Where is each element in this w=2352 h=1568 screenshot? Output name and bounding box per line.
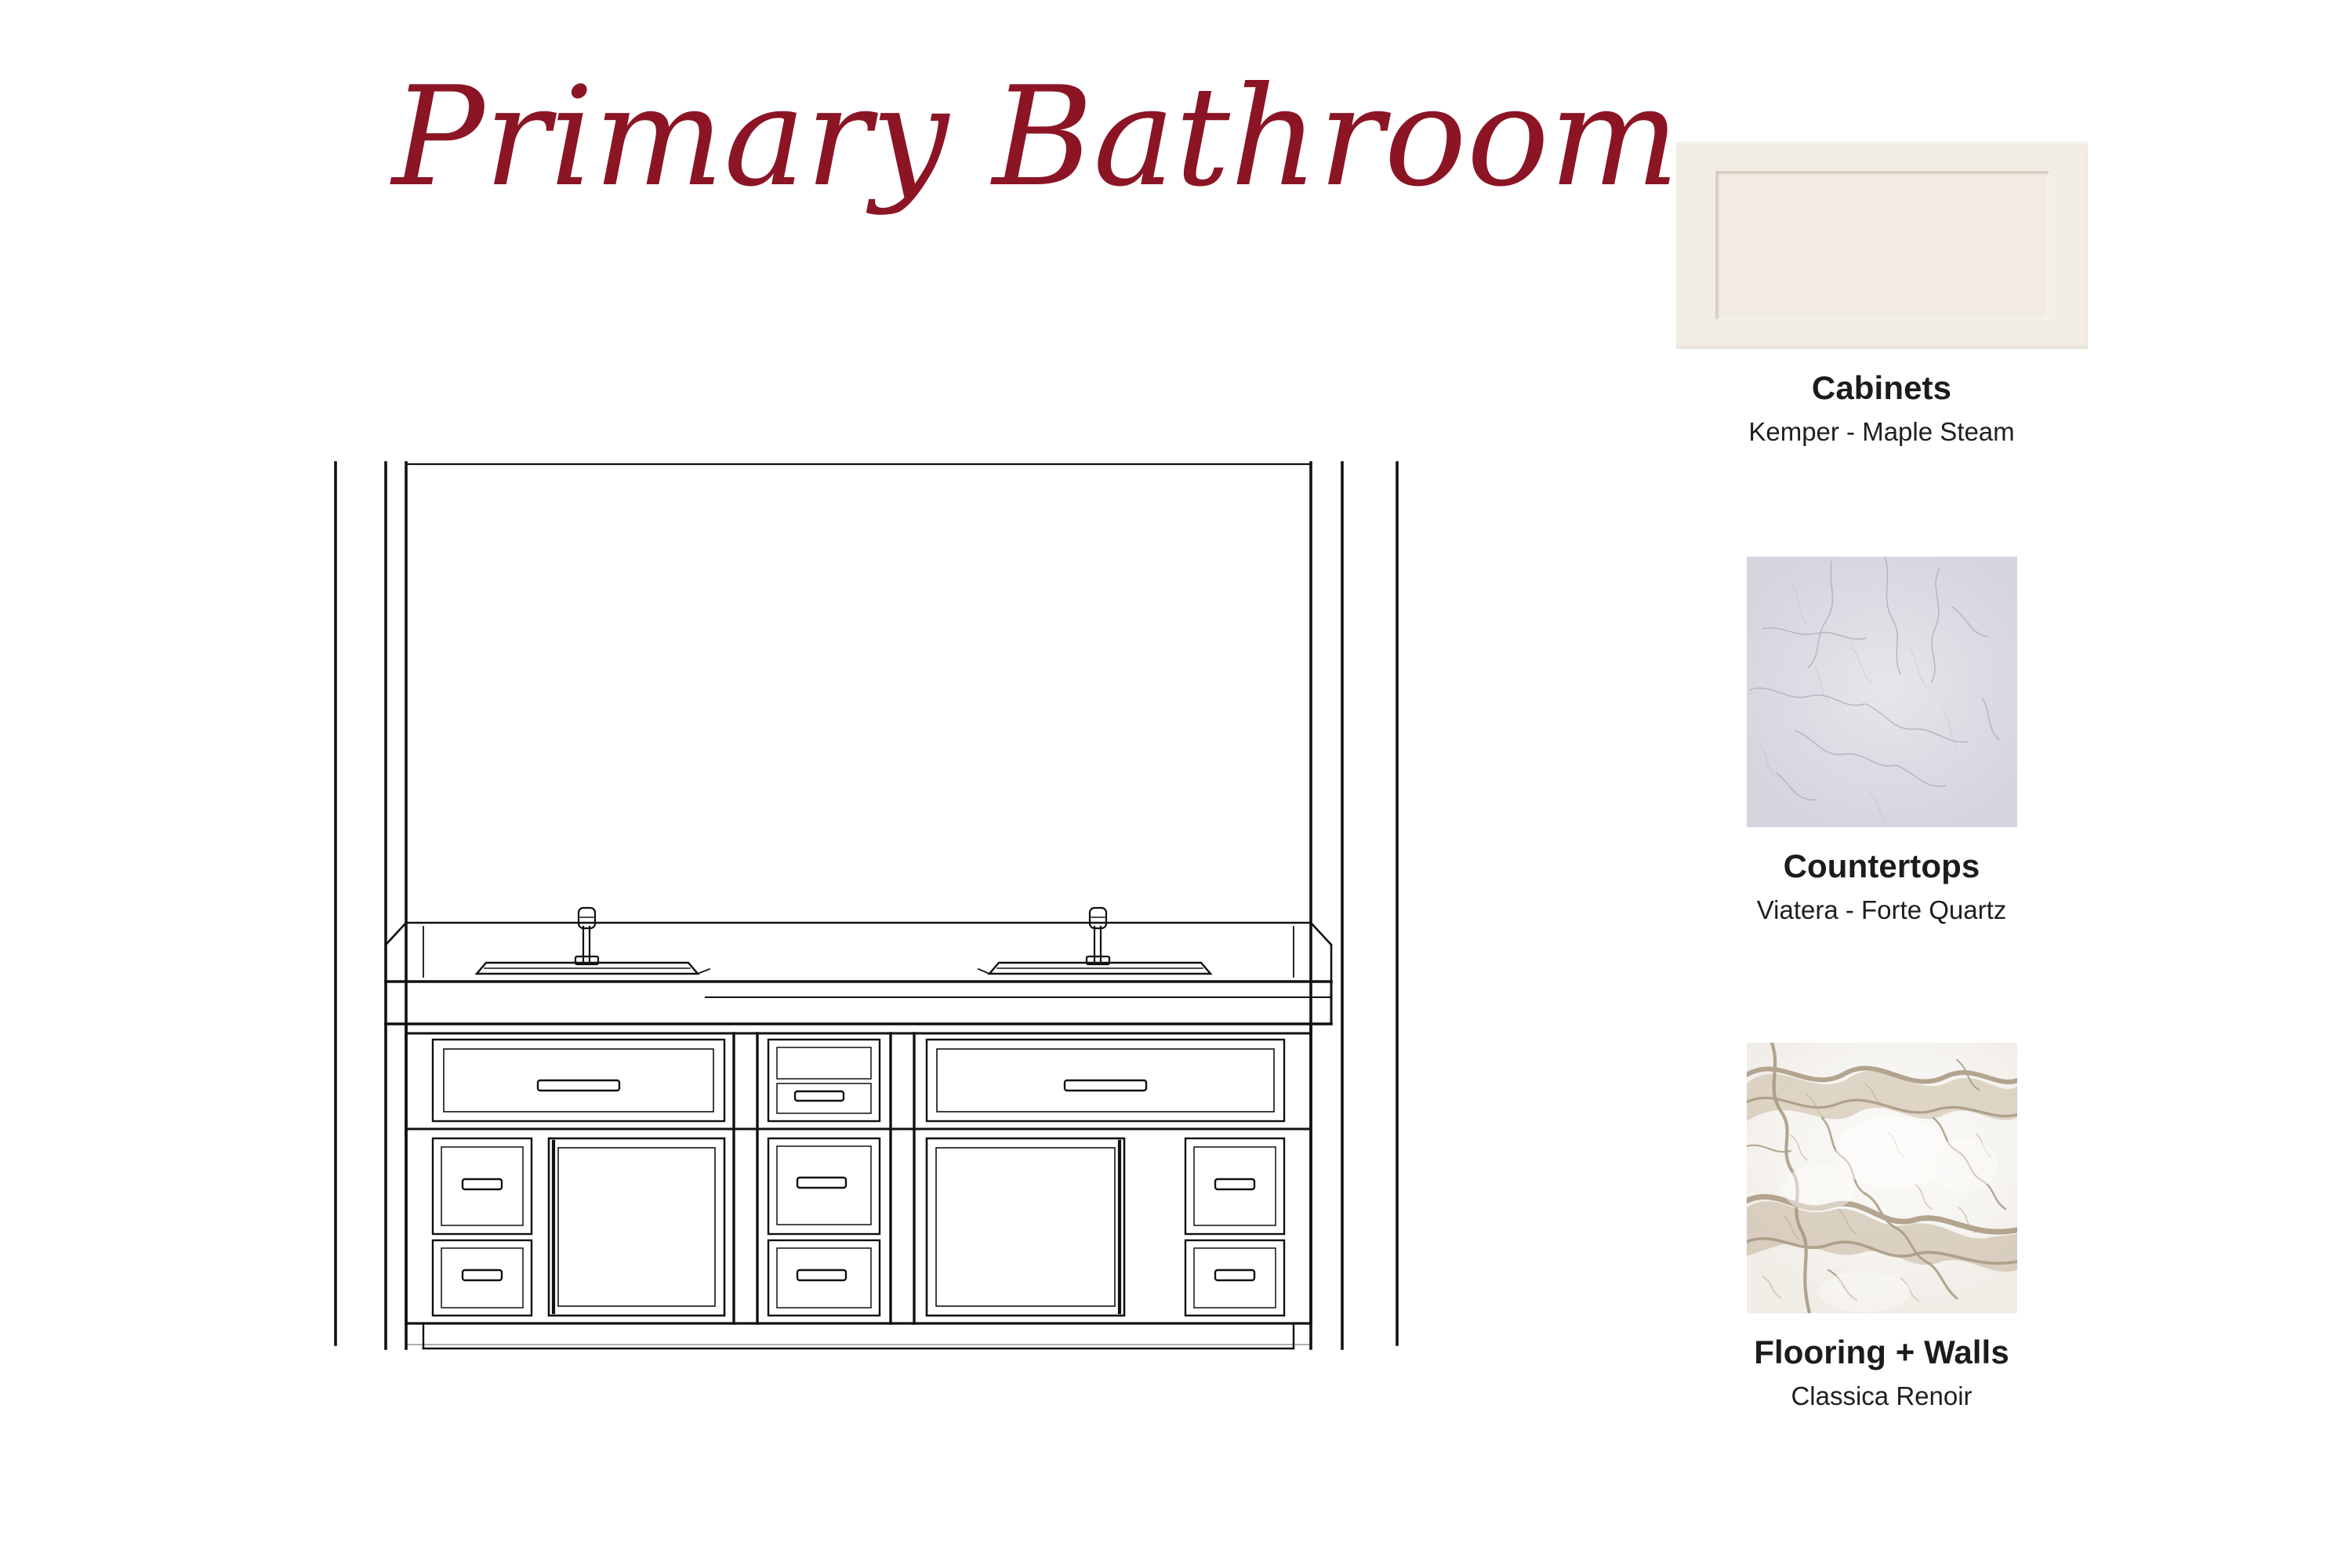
material-card-cabinets[interactable]: Cabinets Kemper - Maple Steam — [1568, 141, 2195, 448]
wall-trim-lines — [336, 463, 1397, 1348]
drawer-front — [768, 1240, 880, 1316]
material-label: Cabinets — [1568, 369, 2195, 407]
quartz-slab-swatch — [1747, 557, 2017, 827]
drawer-front — [768, 1040, 880, 1121]
cabinet-rails — [406, 1033, 1311, 1220]
drawer-front — [433, 1240, 532, 1316]
drawer-front — [927, 1040, 1284, 1121]
material-sublabel: Classica Renoir — [1568, 1381, 2195, 1412]
cabinet-door-bevel — [1676, 141, 2088, 349]
board-title-text: Primary Bathroom — [390, 58, 1679, 217]
backsplash — [386, 923, 1331, 982]
bar-pull-icon — [538, 1080, 619, 1091]
material-sublabel: Kemper - Maple Steam — [1568, 416, 2195, 448]
countertop-slab — [386, 982, 1331, 1024]
left-sink-and-faucet — [477, 908, 710, 974]
right-sink-and-faucet — [978, 908, 1210, 974]
material-selection-list: Cabinets Kemper - Maple Steam — [1568, 118, 2195, 1490]
bar-pull-icon — [463, 1179, 502, 1189]
swatch-wrap — [1568, 557, 2195, 827]
material-label: Flooring + Walls — [1568, 1334, 2195, 1371]
material-card-countertops[interactable]: Countertops Viatera - Forte Quartz — [1568, 557, 2195, 926]
faucet-icon — [575, 908, 598, 964]
swatch-wrap — [1568, 141, 2195, 349]
cabinet-door — [549, 1138, 724, 1316]
material-sublabel: Viatera - Forte Quartz — [1568, 895, 2195, 926]
left-bay — [433, 1040, 724, 1316]
drawer-front — [433, 1040, 724, 1121]
cabinet-door — [927, 1138, 1124, 1316]
drawer-front — [1185, 1240, 1284, 1316]
bar-pull-icon — [1215, 1179, 1254, 1189]
material-card-flooring-walls[interactable]: Flooring + Walls Classica Renoir — [1568, 1043, 2195, 1412]
marble-slab-swatch — [1747, 1043, 2017, 1313]
bar-pull-icon — [463, 1270, 502, 1280]
vanity-cabinet-body — [406, 1024, 1311, 1348]
right-bay — [927, 1040, 1284, 1316]
board-title: Primary Bathroom — [392, 55, 1411, 251]
cabinet-door-swatch — [1676, 141, 2088, 349]
drawer-front — [1185, 1138, 1284, 1234]
bar-pull-icon — [795, 1091, 844, 1101]
bar-pull-icon — [1215, 1270, 1254, 1280]
faucet-icon — [1087, 908, 1109, 964]
material-label: Countertops — [1568, 848, 2195, 885]
vanity-elevation-drawing — [314, 447, 1443, 1388]
bar-pull-icon — [1065, 1080, 1146, 1091]
bar-pull-icon — [797, 1270, 846, 1280]
bar-pull-icon — [797, 1178, 846, 1188]
swatch-wrap — [1568, 1043, 2195, 1313]
center-bay — [768, 1040, 880, 1316]
